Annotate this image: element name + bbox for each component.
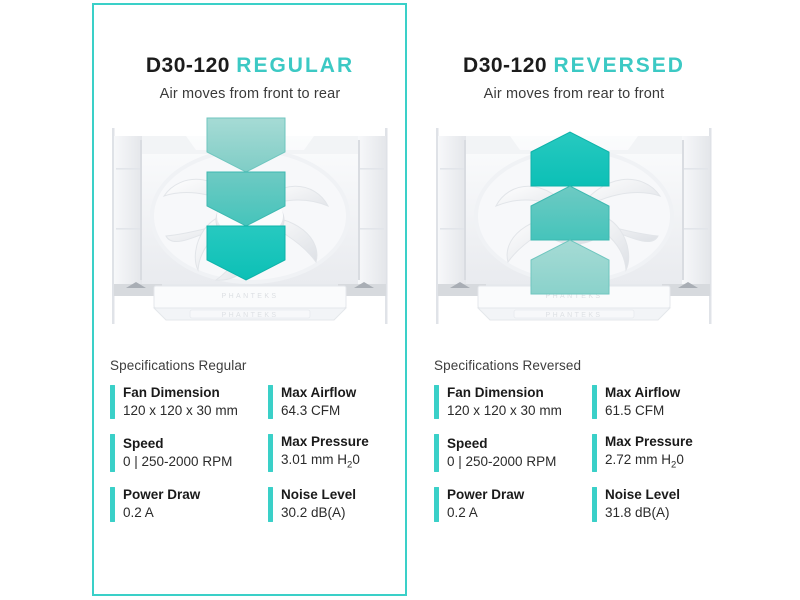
spec-label: Fan Dimension [447,385,562,402]
spec-accent-bar [434,385,439,419]
spec-label: Max Pressure [605,434,693,451]
panel-heading-regular: D30-120 REGULAR Air moves from front to … [88,0,412,102]
panel-subtitle-regular: Air moves from front to rear [88,86,412,102]
product-panel-regular: D30-120 REGULAR Air moves from front to … [88,0,412,600]
panel-title-model: D30-120 [463,54,547,77]
spec-label: Speed [447,436,556,453]
spec-item-power-draw: Power Draw 0.2 A [110,487,268,521]
spec-value: 2.72 mm H20 [605,451,693,472]
spec-value: 31.8 dB(A) [605,504,680,522]
spec-value: 120 x 120 x 30 mm [447,402,562,420]
specs-grid: Fan Dimension 120 x 120 x 30 mm Max Airf… [110,385,402,522]
svg-text:PHANTEKS: PHANTEKS [222,312,279,319]
svg-text:PHANTEKS: PHANTEKS [222,293,279,300]
specifications-reversed: Specifications Reversed Fan Dimension 12… [434,358,726,522]
spec-item-speed: Speed 0 | 250-2000 RPM [110,434,268,472]
specs-grid: Fan Dimension 120 x 120 x 30 mm Max Airf… [434,385,726,522]
panel-title-reversed: D30-120 REVERSED [412,54,736,77]
spec-accent-bar [592,385,597,419]
spec-accent-bar [110,487,115,521]
spec-value-suffix: 0 [676,452,684,467]
spec-value: 30.2 dB(A) [281,504,356,522]
svg-text:PHANTEKS: PHANTEKS [546,312,603,319]
spec-item-max-pressure: Max Pressure 3.01 mm H20 [268,434,402,472]
spec-value: 3.01 mm H20 [281,451,369,472]
spec-value-prefix: 2.72 mm H [605,452,671,467]
panel-title-variant: REGULAR [236,54,354,77]
spec-value-suffix: 0 [352,452,360,467]
spec-item-fan-dimension: Fan Dimension 120 x 120 x 30 mm [110,385,268,419]
spec-value: 61.5 CFM [605,402,680,420]
spec-label: Max Pressure [281,434,369,451]
spec-item-max-pressure: Max Pressure 2.72 mm H20 [592,434,726,472]
spec-accent-bar [268,434,273,472]
spec-value: 0.2 A [123,504,200,522]
spec-value: 0.2 A [447,504,524,522]
spec-label: Fan Dimension [123,385,238,402]
spec-label: Max Airflow [605,385,680,402]
specs-title: Specifications Reversed [434,358,726,373]
spec-item-fan-dimension: Fan Dimension 120 x 120 x 30 mm [434,385,592,419]
spec-accent-bar [268,385,273,419]
product-artwork-regular: PHANTEKS PHANTEKS [102,110,398,338]
spec-accent-bar [434,434,439,472]
spec-value: 120 x 120 x 30 mm [123,402,238,420]
panel-subtitle-reversed: Air moves from rear to front [412,86,736,102]
spec-value-prefix: 3.01 mm H [281,452,347,467]
specs-title: Specifications Regular [110,358,402,373]
spec-item-noise-level: Noise Level 30.2 dB(A) [268,487,402,521]
spec-item-max-airflow: Max Airflow 61.5 CFM [592,385,726,419]
product-artwork-reversed: PHANTEKS PHANTEKS [426,110,722,338]
spec-item-noise-level: Noise Level 31.8 dB(A) [592,487,726,521]
chevron-down-airflow-icon [207,118,285,280]
spec-label: Noise Level [281,487,356,504]
product-panel-reversed: D30-120 REVERSED Air moves from rear to … [412,0,736,600]
spec-accent-bar [592,434,597,472]
spec-item-max-airflow: Max Airflow 64.3 CFM [268,385,402,419]
panel-title-regular: D30-120 REGULAR [88,54,412,77]
spec-item-power-draw: Power Draw 0.2 A [434,487,592,521]
spec-label: Power Draw [123,487,200,504]
spec-label: Max Airflow [281,385,356,402]
spec-accent-bar [592,487,597,521]
spec-item-speed: Speed 0 | 250-2000 RPM [434,434,592,472]
spec-label: Speed [123,436,232,453]
spec-value: 64.3 CFM [281,402,356,420]
spec-accent-bar [110,385,115,419]
fan-radiator-front-view-icon: PHANTEKS PHANTEKS [426,110,722,338]
spec-label: Noise Level [605,487,680,504]
spec-accent-bar [434,487,439,521]
spec-value: 0 | 250-2000 RPM [123,453,232,471]
chevron-up-airflow-icon [531,132,609,294]
fan-radiator-front-view-icon: PHANTEKS PHANTEKS [102,110,398,338]
spec-label: Power Draw [447,487,524,504]
spec-accent-bar [110,434,115,472]
panel-title-model: D30-120 [146,54,230,77]
specifications-regular: Specifications Regular Fan Dimension 120… [110,358,402,522]
panel-heading-reversed: D30-120 REVERSED Air moves from rear to … [412,0,736,102]
spec-accent-bar [268,487,273,521]
panel-title-variant: REVERSED [553,54,685,77]
spec-value: 0 | 250-2000 RPM [447,453,556,471]
